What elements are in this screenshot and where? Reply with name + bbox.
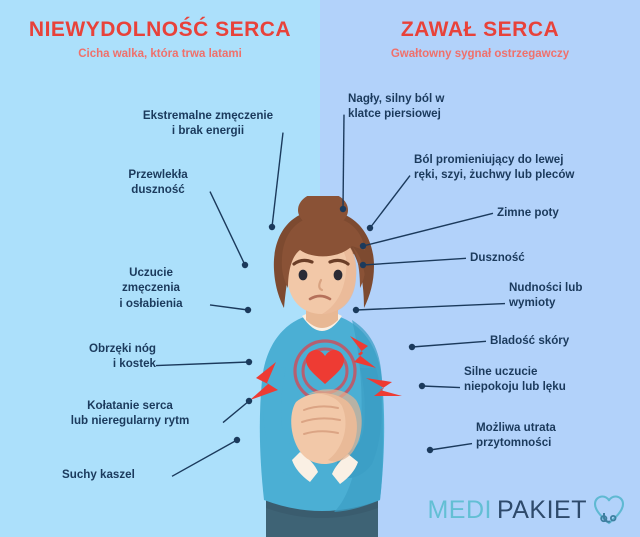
connector-dot-chronic-dyspnea [242,262,248,268]
symptom-label-radiating-pain: Ból promieniujący do lewej ręki, szyi, ż… [414,152,640,183]
symptom-label-leg-swelling: Obrzęki nóg i kostek [40,341,156,372]
logo-text-pakiet: PAKIET [497,496,587,525]
symptom-label-chronic-dyspnea: Przewlekła duszność [106,167,210,198]
connector-dot-loss-of-consciousness [427,447,433,453]
symptom-label-dry-cough: Suchy kaszel [62,467,172,482]
brand-logo: MEDI PAKIET [427,493,626,527]
connector-dot-severe-anxiety [419,383,425,389]
symptom-label-extreme-fatigue: Ekstremalne zmęczenie i brak energii [133,108,283,139]
connector-line-shortness-of-breath [363,258,466,265]
right-column-title: ZAWAŁ SERCA [320,18,640,41]
infographic-root: NIEWYDOLNOŚĆ SERCA Cicha walka, która tr… [0,0,640,537]
connector-line-leg-swelling [156,362,249,366]
connector-dot-weakness [245,307,251,313]
connector-dot-leg-swelling [246,359,252,365]
left-column-subtitle: Cicha walka, która trwa latami [0,48,320,61]
connector-dot-cold-sweats [360,243,366,249]
connector-line-palpitations [223,401,249,423]
connector-line-radiating-pain [370,176,410,228]
connector-line-severe-anxiety [422,386,460,388]
symptom-label-chest-pain: Nagły, silny ból w klatce piersiowej [348,91,518,122]
connector-dot-palpitations [246,398,252,404]
connector-dot-shortness-of-breath [360,262,366,268]
connector-dot-dry-cough [234,437,240,443]
connector-line-extreme-fatigue [272,133,283,227]
connector-line-weakness [210,305,248,310]
symptom-label-pale-skin: Bladość skóry [490,333,610,348]
symptom-label-severe-anxiety: Silne uczucie niepokoju lub lęku [464,364,624,395]
connector-dot-pale-skin [409,344,415,350]
right-column-header: ZAWAŁ SERCA Gwałtowny sygnał ostrzegawcz… [320,18,640,61]
symptom-label-nausea-vomiting: Nudności lub wymioty [509,280,627,311]
heart-stethoscope-icon [592,493,626,527]
connector-line-cold-sweats [363,213,493,246]
connector-dot-chest-pain [340,206,346,212]
logo-text-medi: MEDI [427,496,492,525]
connector-dot-extreme-fatigue [269,224,275,230]
left-column-title: NIEWYDOLNOŚĆ SERCA [0,18,320,41]
symptom-label-palpitations: Kołatanie serca lub nieregularny rytm [37,398,223,429]
connector-line-chronic-dyspnea [210,192,245,265]
symptom-label-weakness: Uczucie zmęczenia i osłabienia [92,265,210,311]
connector-line-loss-of-consciousness [430,444,472,450]
left-column-header: NIEWYDOLNOŚĆ SERCA Cicha walka, która tr… [0,18,320,61]
connector-line-pale-skin [412,341,486,347]
connector-line-chest-pain [343,115,344,209]
symptom-label-shortness-of-breath: Duszność [470,250,570,265]
connector-dot-radiating-pain [367,225,373,231]
connector-line-dry-cough [172,440,237,476]
connector-dot-nausea-vomiting [353,307,359,313]
symptom-label-cold-sweats: Zimne poty [497,205,607,220]
symptom-label-loss-of-consciousness: Możliwa utrata przytomności [476,420,622,451]
right-column-subtitle: Gwałtowny sygnał ostrzegawczy [320,48,640,61]
connector-line-nausea-vomiting [356,304,505,310]
